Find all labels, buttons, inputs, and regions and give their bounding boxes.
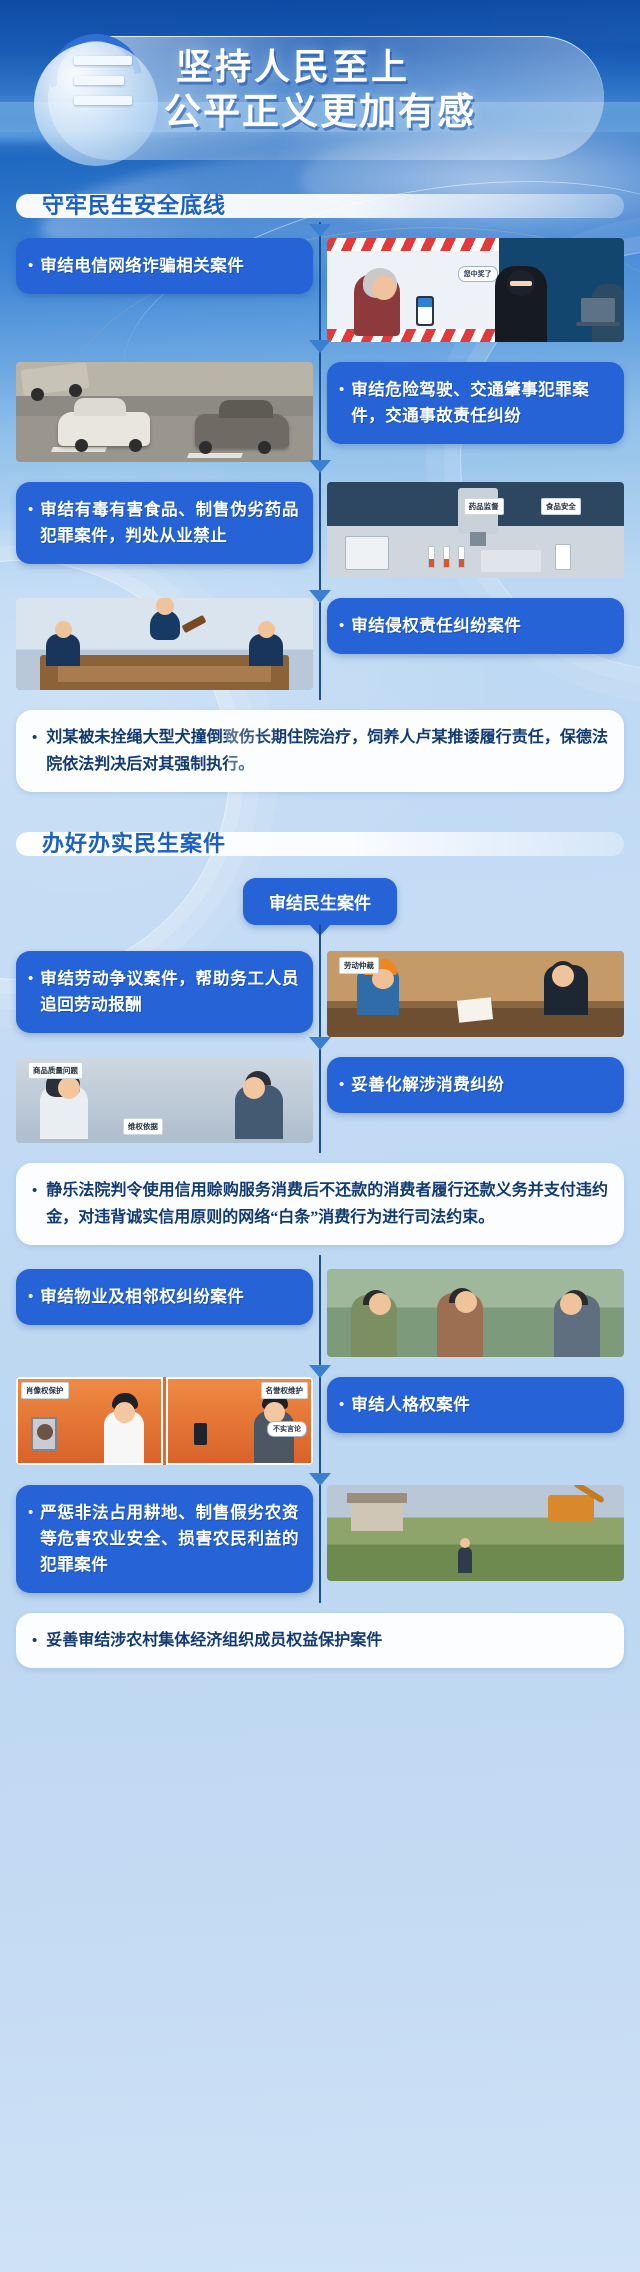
bullet-icon: • xyxy=(32,724,37,778)
flow-cell-image: 药品监督 食品安全 xyxy=(327,482,624,578)
section-2-note2-wrap: • 妥善审结涉农村集体经济组织成员权益保护案件 xyxy=(16,1613,624,1668)
flow-cell-image: 肖像权保护 名誉权维护 不实言论 xyxy=(16,1377,313,1465)
flow-row: 肖像权保护 名誉权维护 不实言论 • 审结人格权案件 xyxy=(16,1367,624,1475)
courtroom-illustration xyxy=(16,598,313,690)
page-header: 坚持人民至上 公平正义更加有感 xyxy=(0,0,640,178)
case-note-text: 妥善审结涉农村集体经济组织成员权益保护案件 xyxy=(46,1627,382,1654)
comic-panel-portrait: 肖像权保护 xyxy=(16,1377,163,1465)
bullet-icon: • xyxy=(339,1392,344,1418)
flow-cell-text: • 严惩非法占用耕地、制售假劣农资等危害农业安全、损害农民利益的犯罪案件 xyxy=(16,1485,313,1593)
case-card[interactable]: • 严惩非法占用耕地、制售假劣农资等危害农业安全、损害农民利益的犯罪案件 xyxy=(16,1485,313,1593)
section-1-note-wrap: • 刘某被未拴绳大型犬撞倒致伤长期住院治疗，饲养人卢某推诿履行责任，保德法院依法… xyxy=(16,710,624,792)
case-note-text: 刘某被未拴绳大型犬撞倒致伤长期住院治疗，饲养人卢某推诿履行责任，保德法院依法判决… xyxy=(46,724,608,778)
case-note: • 刘某被未拴绳大型犬撞倒致伤长期住院治疗，饲养人卢某推诿履行责任，保德法院依法… xyxy=(16,710,624,792)
flow-row: • 严惩非法占用耕地、制售假劣农资等危害农业安全、损害农民利益的犯罪案件 xyxy=(16,1475,624,1603)
comic-panel-reputation: 名誉权维护 不实言论 xyxy=(166,1377,313,1465)
case-card[interactable]: • 审结劳动争议案件，帮助务工人员追回劳动报酬 xyxy=(16,951,313,1033)
bullet-icon: • xyxy=(28,497,33,549)
page-title: 坚持人民至上 公平正义更加有感 xyxy=(176,44,476,134)
case-note: • 静乐法院判令使用信用赊购服务消费后不还款的消费者履行还款义务并支付违约金，对… xyxy=(16,1163,624,1245)
case-card[interactable]: • 审结侵权责任纠纷案件 xyxy=(327,598,624,654)
bullet-icon: • xyxy=(339,1072,344,1098)
section-1-flow: • 审结电信网络诈骗相关案件 您中奖了 xyxy=(16,222,624,700)
page-title-line-2: 公平正义更加有感 xyxy=(164,89,476,134)
flow-row: • 审结有毒有害食品、制售伪劣药品犯罪案件，判处从业禁止 药品监督 食品安全 xyxy=(16,472,624,588)
neighbor-dispute-illustration xyxy=(327,1269,624,1357)
flow-cell-text: • 审结侵权责任纠纷案件 xyxy=(327,598,624,654)
bullet-icon: • xyxy=(339,377,344,429)
section-header-2: 办好办实民生案件 xyxy=(16,826,624,860)
tag-label: 商品质量问题 xyxy=(28,1062,83,1079)
bullet-icon: • xyxy=(28,966,33,1018)
case-card-text: 审结物业及相邻权纠纷案件 xyxy=(40,1284,244,1310)
case-card[interactable]: • 审结电信网络诈骗相关案件 xyxy=(16,238,313,294)
tag-label: 维权依据 xyxy=(123,1118,163,1135)
food-drug-lab-illustration: 药品监督 食品安全 xyxy=(327,482,624,578)
bullet-icon: • xyxy=(339,613,344,639)
flow-cell-text: • 审结有毒有害食品、制售伪劣药品犯罪案件，判处从业禁止 xyxy=(16,482,313,564)
flow-cell-image: 商品质量问题 维权依据 xyxy=(16,1057,313,1143)
case-card-text: 审结危险驾驶、交通肇事犯罪案件，交通事故责任纠纷 xyxy=(351,377,610,429)
flow-cell-image xyxy=(16,598,313,690)
case-card[interactable]: • 审结有毒有害食品、制售伪劣药品犯罪案件，判处从业禁止 xyxy=(16,482,313,564)
page-title-line-1: 坚持人民至上 xyxy=(176,44,476,89)
bubble-label: 您中奖了 xyxy=(458,266,498,282)
flow-row: • 审结劳动争议案件，帮助务工人员追回劳动报酬 劳动仲裁 xyxy=(16,941,624,1047)
flow-cell-text: • 妥善化解涉消费纠纷 xyxy=(327,1057,624,1113)
case-note-text: 静乐法院判令使用信用赊购服务消费后不还款的消费者履行还款义务并支付违约金，对违背… xyxy=(46,1177,608,1231)
bullet-icon: • xyxy=(32,1627,37,1654)
section-title-1: 守牢民生安全底线 xyxy=(42,188,226,220)
bubble-label: 不实言论 xyxy=(267,1421,307,1437)
flow-cell-text: • 审结人格权案件 xyxy=(327,1377,624,1433)
case-card-text: 审结劳动争议案件，帮助务工人员追回劳动报酬 xyxy=(40,966,299,1018)
case-card-text: 审结有毒有害食品、制售伪劣药品犯罪案件，判处从业禁止 xyxy=(40,497,299,549)
consumer-rights-illustration: 商品质量问题 维权依据 xyxy=(16,1057,313,1143)
case-card-text: 严惩非法占用耕地、制售假劣农资等危害农业安全、损害农民利益的犯罪案件 xyxy=(40,1500,299,1578)
flow-cell-image: 劳动仲裁 xyxy=(327,951,624,1037)
case-card[interactable]: • 审结人格权案件 xyxy=(327,1377,624,1433)
case-card[interactable]: • 审结危险驾驶、交通肇事犯罪案件，交通事故责任纠纷 xyxy=(327,362,624,444)
case-card-text: 审结电信网络诈骗相关案件 xyxy=(40,253,244,279)
flow-row: • 审结电信网络诈骗相关案件 您中奖了 xyxy=(16,228,624,352)
labor-dispute-illustration: 劳动仲裁 xyxy=(327,951,624,1037)
badge-label: 劳动仲裁 xyxy=(339,957,379,974)
flow-row: • 审结侵权责任纠纷案件 xyxy=(16,588,624,700)
flow-row: • 审结危险驾驶、交通肇事犯罪案件，交通事故责任纠纷 xyxy=(16,352,624,472)
section-title-2: 办好办实民生案件 xyxy=(42,826,226,858)
flow-cell-image xyxy=(16,362,313,462)
subsection-pill[interactable]: 审结民生案件 xyxy=(243,878,397,925)
case-card[interactable]: • 妥善化解涉消费纠纷 xyxy=(327,1057,624,1113)
bullet-icon: • xyxy=(28,1500,33,1578)
section-2-pill-wrap: 审结民生案件 xyxy=(16,878,624,925)
sign-label: 药品监督 xyxy=(464,498,504,515)
case-card-text: 审结侵权责任纠纷案件 xyxy=(351,613,521,639)
telecom-fraud-illustration: 您中奖了 xyxy=(327,238,624,342)
flow-cell-text: • 审结劳动争议案件，帮助务工人员追回劳动报酬 xyxy=(16,951,313,1033)
section-numeral-three xyxy=(74,56,132,105)
flow-row: 商品质量问题 维权依据 • 妥善化解涉消费纠纷 xyxy=(16,1047,624,1153)
bullet-icon: • xyxy=(32,1177,37,1231)
case-note: • 妥善审结涉农村集体经济组织成员权益保护案件 xyxy=(16,1613,624,1668)
section-2-note-wrap: • 静乐法院判令使用信用赊购服务消费后不还款的消费者履行还款义务并支付违约金，对… xyxy=(16,1163,624,1245)
flow-cell-image xyxy=(327,1269,624,1357)
flow-cell-text: • 审结物业及相邻权纠纷案件 xyxy=(16,1269,313,1325)
case-card[interactable]: • 审结物业及相邻权纠纷案件 xyxy=(16,1269,313,1325)
section-header-1: 守牢民生安全底线 xyxy=(16,188,624,222)
portrait-reputation-rights-illustration: 肖像权保护 名誉权维护 不实言论 xyxy=(16,1377,313,1465)
flow-cell-text: • 审结危险驾驶、交通肇事犯罪案件，交通事故责任纠纷 xyxy=(327,362,624,444)
case-card-text: 妥善化解涉消费纠纷 xyxy=(351,1072,504,1098)
flow-cell-text: • 审结电信网络诈骗相关案件 xyxy=(16,238,313,294)
tag-label: 名誉权维护 xyxy=(261,1382,309,1399)
flow-row: • 审结物业及相邻权纠纷案件 xyxy=(16,1259,624,1367)
sign-label: 食品安全 xyxy=(541,498,581,515)
section-2-flow: • 审结劳动争议案件，帮助务工人员追回劳动报酬 劳动仲裁 商品质量问题 维权依据 xyxy=(16,925,624,1153)
flow-cell-image: 您中奖了 xyxy=(327,238,624,342)
case-card-text: 审结人格权案件 xyxy=(351,1392,470,1418)
flow-cell-image xyxy=(327,1485,624,1581)
bullet-icon: • xyxy=(28,1284,33,1310)
section-2-flow-b: • 审结物业及相邻权纠纷案件 肖像权保护 名誉权维护 xyxy=(16,1255,624,1603)
traffic-accident-photo xyxy=(16,362,313,462)
bullet-icon: • xyxy=(28,253,33,279)
farmland-damage-illustration xyxy=(327,1485,624,1581)
tag-label: 肖像权保护 xyxy=(21,1382,69,1399)
